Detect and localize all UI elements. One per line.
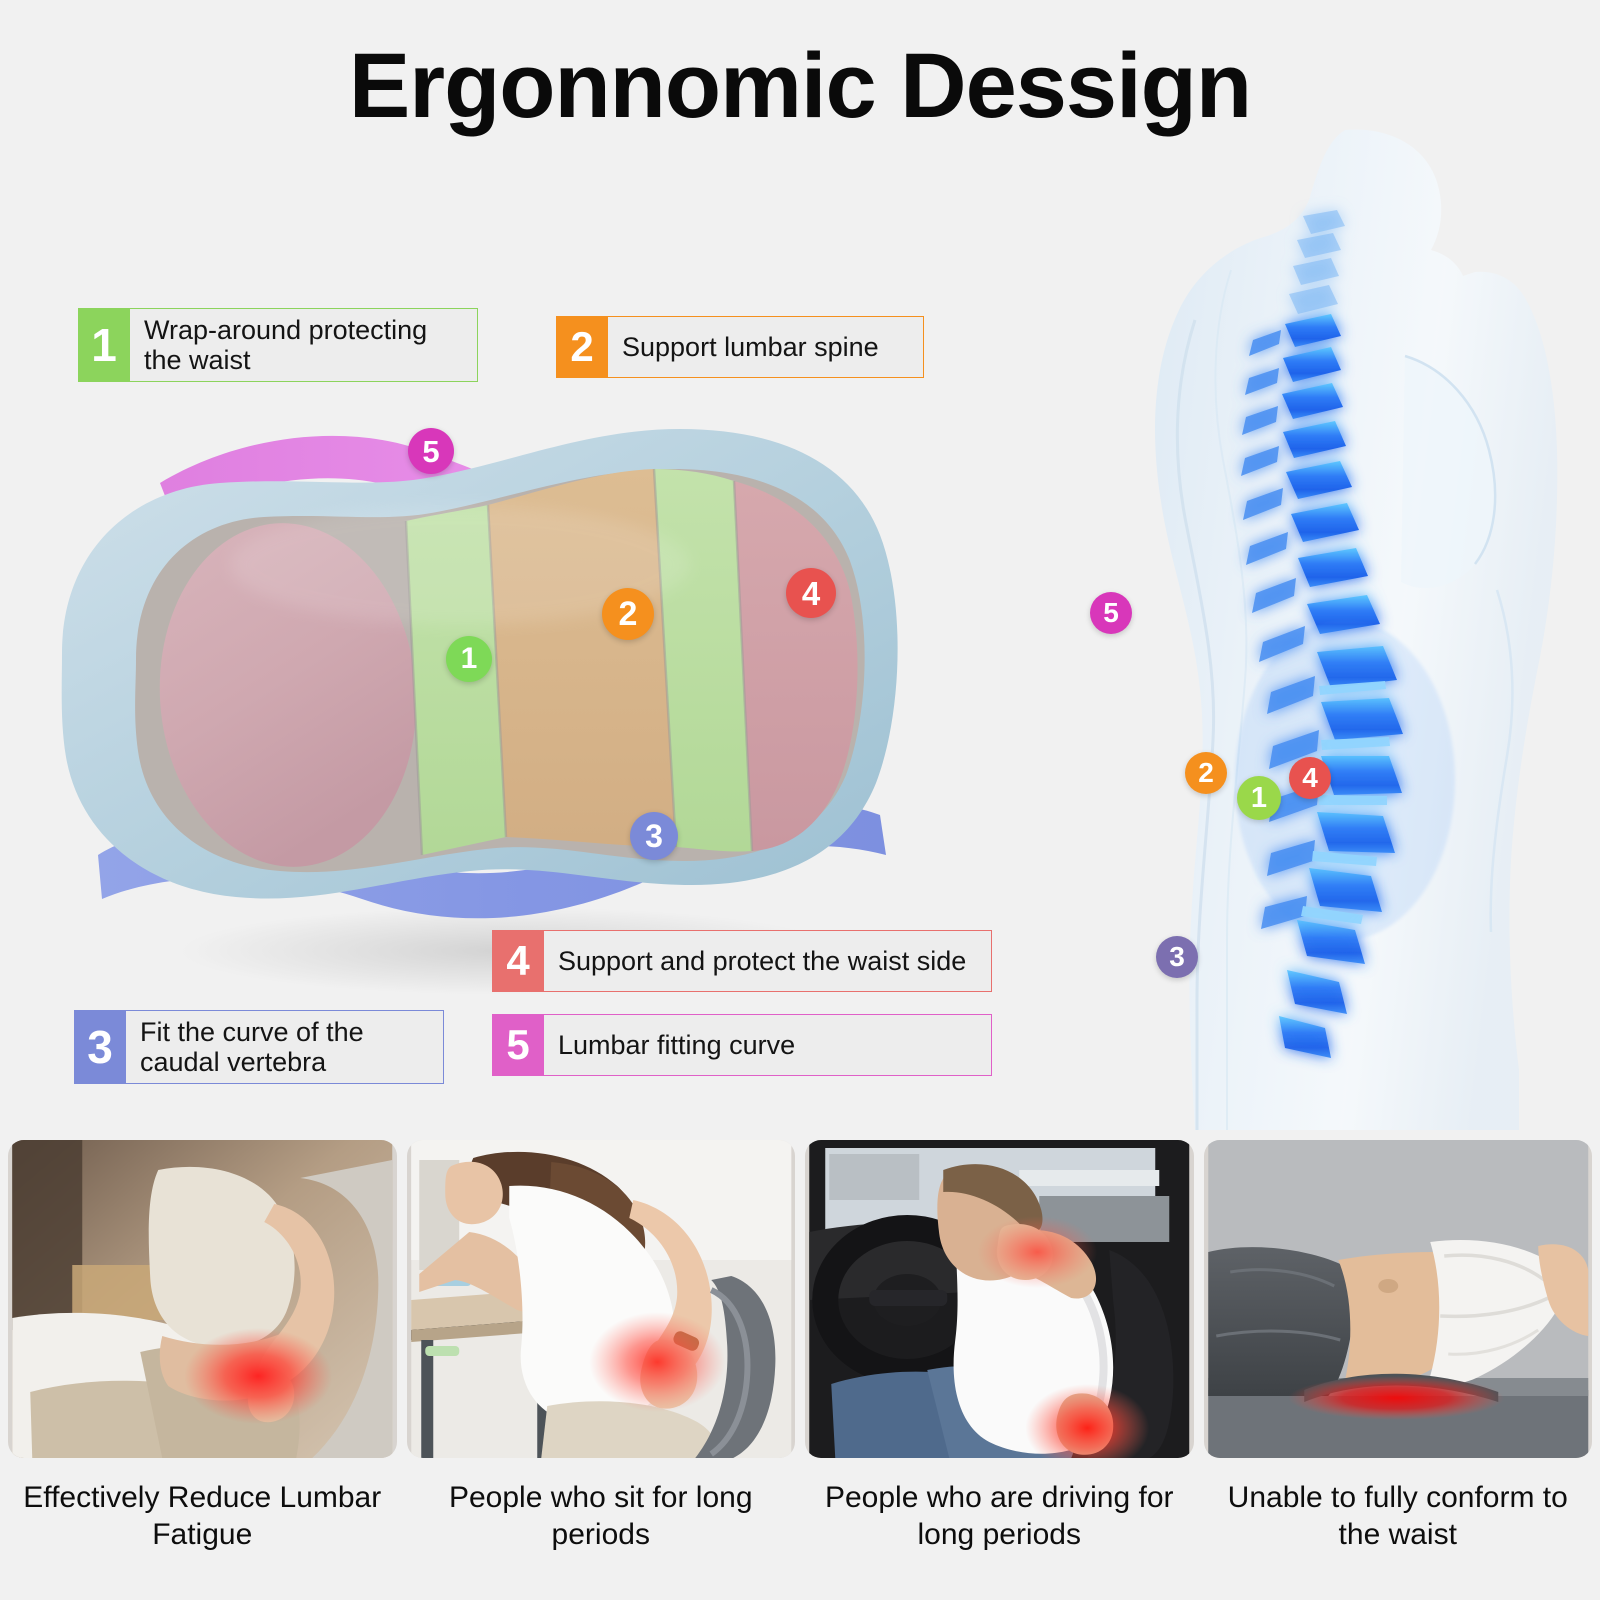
scene-man-in-car: [805, 1140, 1194, 1458]
benefit-cell-2: People who sit for long periods: [407, 1140, 796, 1600]
pillow-marker-2[interactable]: 2: [602, 588, 654, 640]
legend-item-5[interactable]: 5 Lumbar fitting curve: [492, 1014, 992, 1076]
benefit-cell-1: Effectively Reduce Lumbar Fatigue: [8, 1140, 397, 1600]
benefit-caption-4: Unable to fully conform to the waist: [1204, 1480, 1593, 1553]
benefit-photo-1[interactable]: [8, 1140, 397, 1458]
legend-badge-5: 5: [492, 1014, 544, 1076]
pillow-graphic: [40, 385, 960, 1005]
scene-lying-lumbar-gap: [1204, 1140, 1593, 1458]
benefit-caption-2: People who sit for long periods: [407, 1480, 796, 1553]
anatomy-marker-2[interactable]: 2: [1185, 752, 1227, 794]
legend-badge-1: 1: [78, 308, 130, 382]
legend-label-5: Lumbar fitting curve: [544, 1014, 992, 1076]
pillow-marker-3[interactable]: 3: [630, 812, 678, 860]
pillow-marker-4[interactable]: 4: [786, 568, 836, 618]
anatomy-marker-5[interactable]: 5: [1090, 592, 1132, 634]
benefit-caption-1: Effectively Reduce Lumbar Fatigue: [8, 1480, 397, 1553]
legend-label-1: Wrap-around protecting the waist: [130, 308, 478, 382]
benefit-cell-4: Unable to fully conform to the waist: [1204, 1140, 1593, 1600]
legend-item-4[interactable]: 4 Support and protect the waist side: [492, 930, 992, 992]
legend-label-2: Support lumbar spine: [608, 316, 924, 378]
benefits-row: Effectively Reduce Lumbar Fatigue: [0, 1140, 1600, 1600]
pillow-marker-5[interactable]: 5: [408, 428, 454, 474]
anatomy-illustration: [1045, 120, 1600, 1130]
anatomy-marker-4[interactable]: 4: [1289, 757, 1331, 799]
anatomy-marker-3[interactable]: 3: [1156, 936, 1198, 978]
benefit-photo-3[interactable]: [805, 1140, 1194, 1458]
scene-woman-at-desk: [407, 1140, 796, 1458]
legend-item-2[interactable]: 2 Support lumbar spine: [556, 316, 924, 378]
scene-woman-on-bed: [8, 1140, 397, 1458]
pillow-illustration: [40, 385, 960, 1005]
benefit-caption-3: People who are driving for long periods: [805, 1480, 1194, 1553]
benefit-photo-2[interactable]: [407, 1140, 796, 1458]
spine-anatomy-graphic: [1045, 120, 1600, 1130]
legend-badge-4: 4: [492, 930, 544, 992]
anatomy-marker-1[interactable]: 1: [1237, 776, 1281, 820]
benefit-photo-4[interactable]: [1204, 1140, 1593, 1458]
legend-badge-3: 3: [74, 1010, 126, 1084]
legend-item-3[interactable]: 3 Fit the curve of the caudal vertebra: [74, 1010, 444, 1084]
benefit-cell-3: People who are driving for long periods: [805, 1140, 1194, 1600]
legend-item-1[interactable]: 1 Wrap-around protecting the waist: [78, 308, 478, 382]
legend-badge-2: 2: [556, 316, 608, 378]
pillow-marker-1[interactable]: 1: [446, 636, 492, 682]
legend-label-3: Fit the curve of the caudal vertebra: [126, 1010, 444, 1084]
legend-label-4: Support and protect the waist side: [544, 930, 992, 992]
